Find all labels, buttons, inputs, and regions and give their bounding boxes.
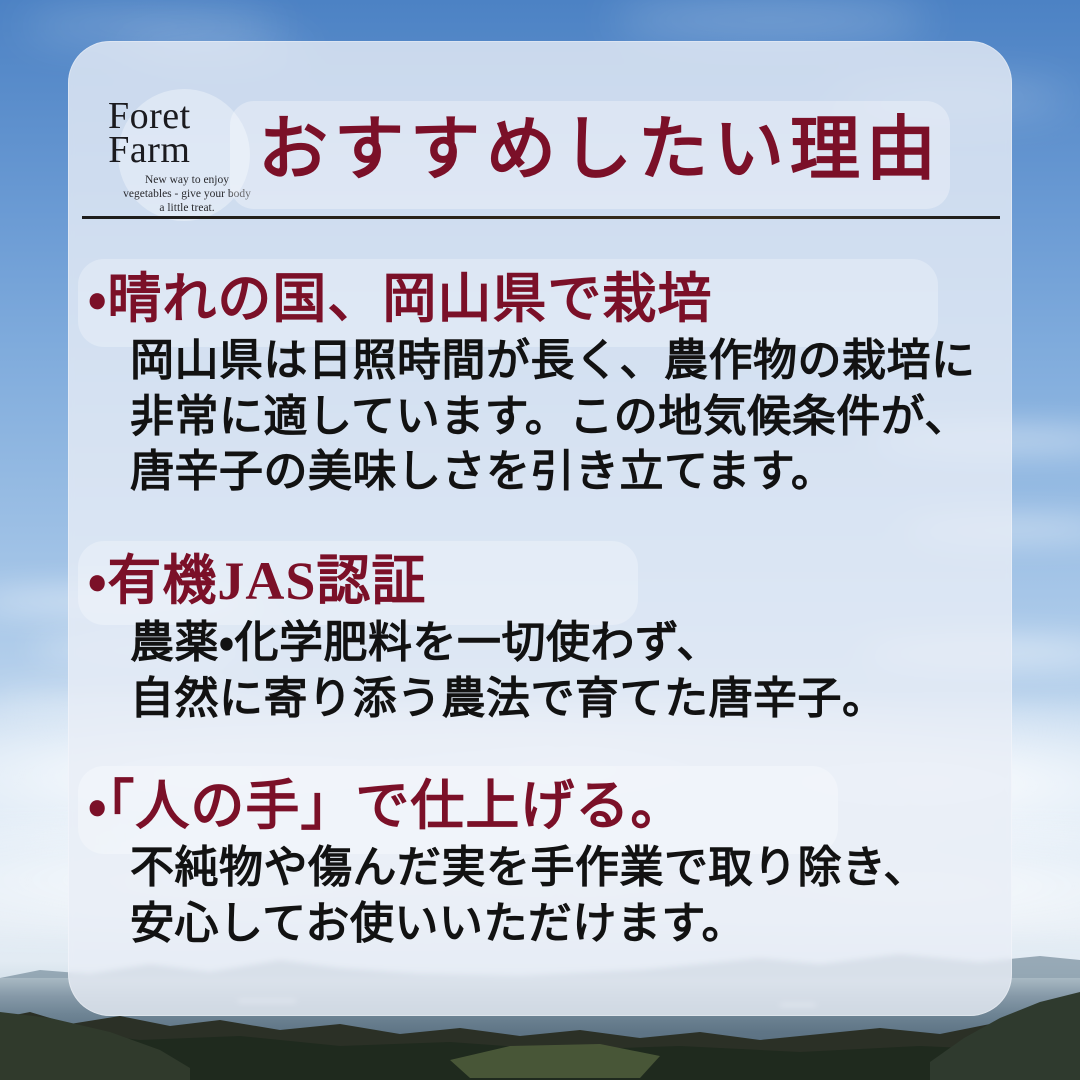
section-bullet-1: ・ — [88, 269, 107, 329]
section-heading-2: ・有機JAS認証 — [88, 551, 1012, 611]
section-bullet-3: ・ — [88, 776, 107, 836]
terrace-field — [430, 1030, 690, 1080]
section-heading-1: ・晴れの国、岡山県で栽培 — [88, 269, 1012, 329]
brand-name: Foret Farm — [108, 99, 191, 169]
header-divider — [82, 216, 1000, 219]
brand-name-line2: Farm — [108, 133, 191, 168]
page-title: おすすめしたい理由 — [258, 109, 958, 193]
section-heading-3: ・「人の手」で仕上げる。 — [88, 776, 1012, 836]
content-card: Foret Farm New way to enjoy vegetables -… — [68, 41, 1012, 1016]
section-body-3: 不純物や傷んだ実を手作業で取り除き、 安心してお使いいただけます。 — [130, 840, 1012, 951]
cloud-streak — [20, 18, 280, 34]
section-bullet-2: ・ — [88, 551, 107, 611]
section-body-1: 岡山県は日照時間が長く、農作物の栽培に 非常に適しています。この地気候条件が、 … — [130, 333, 1012, 499]
promo-image-stage: Foret Farm New way to enjoy vegetables -… — [0, 0, 1080, 1080]
section-heading-text-2: 有機JAS認証 — [107, 551, 426, 611]
section-heading-text-3: 「人の手」で仕上げる。 — [107, 776, 685, 836]
section-body-2: 農薬・化学肥料を一切使わず、 自然に寄り添う農法で育てた唐辛子。 — [130, 615, 1012, 726]
brand-name-line1: Foret — [108, 99, 191, 134]
section-heading-text-1: 晴れの国、岡山県で栽培 — [107, 269, 712, 329]
left-hillside — [0, 1012, 190, 1080]
reason-section-2: ・有機JAS認証 農薬・化学肥料を一切使わず、 自然に寄り添う農法で育てた唐辛子… — [68, 551, 1012, 726]
reason-section-3: ・「人の手」で仕上げる。 不純物や傷んだ実を手作業で取り除き、 安心してお使いい… — [68, 776, 1012, 951]
reason-section-1: ・晴れの国、岡山県で栽培 岡山県は日照時間が長く、農作物の栽培に 非常に適してい… — [68, 269, 1012, 500]
cloud-streak — [610, 10, 930, 30]
